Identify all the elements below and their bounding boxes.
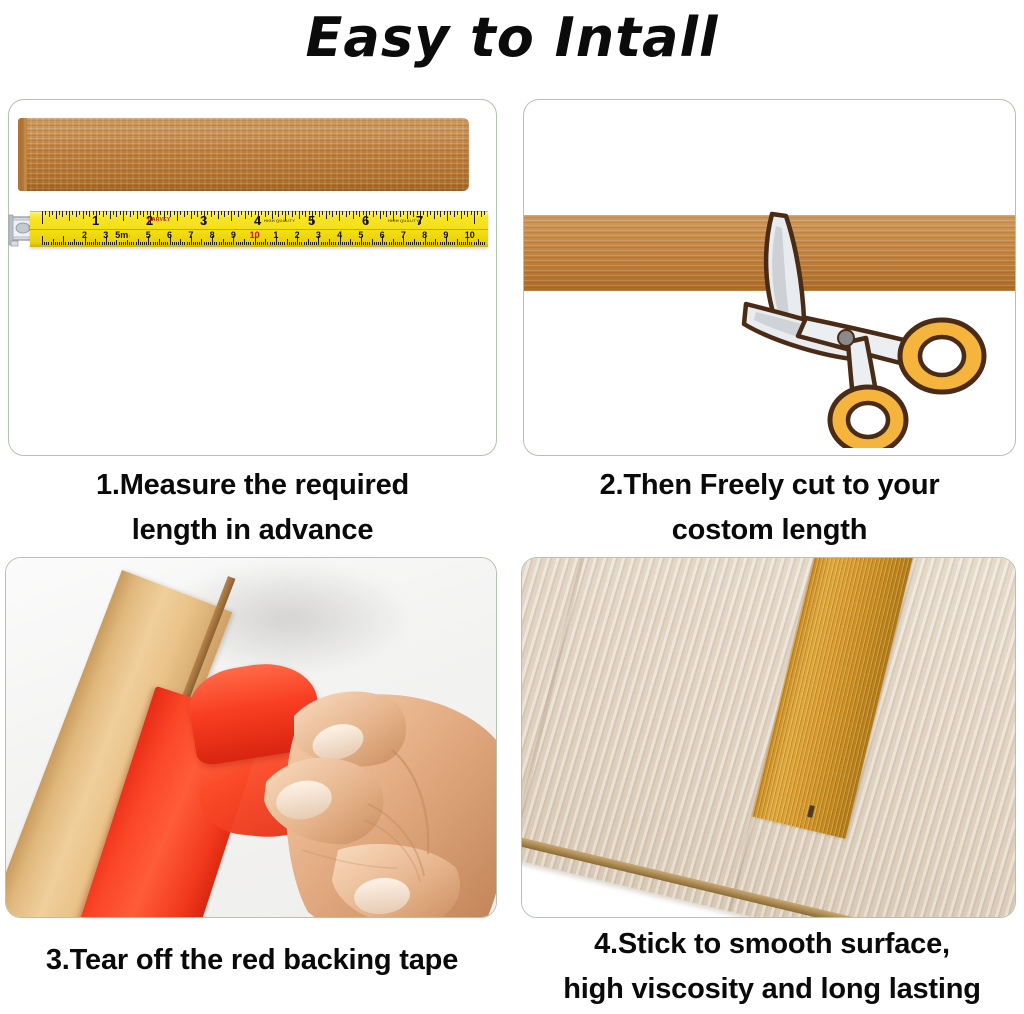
caption-measure-line2: length in advance	[8, 508, 497, 553]
page-title: Easy to Intall	[0, 2, 1024, 74]
panel-cut	[523, 99, 1016, 456]
tape-metric-label: 9	[443, 231, 448, 240]
tape-metric-label: 4	[337, 231, 342, 240]
panel-stick	[521, 557, 1016, 918]
caption-peel-line1: 3.Tear off the red backing tape	[0, 938, 504, 983]
tape-metric-label: 3	[316, 231, 321, 240]
tape-quality-text: HIGH QUALITY	[264, 218, 295, 223]
tape-metric-label: 1	[273, 231, 278, 240]
infographic-page: Easy to Intall 1234567234567891012345678…	[0, 0, 1024, 1014]
tape-metric-label: 6	[167, 231, 172, 240]
wood-trim-strip-measure	[18, 118, 469, 191]
tape-measure: 12345672345678910123456789105m HARVEY HI…	[8, 209, 488, 247]
tape-metric-label: 6	[380, 231, 385, 240]
caption-peel: 3.Tear off the red backing tape	[0, 938, 504, 983]
tape-inch-label: 5	[308, 214, 315, 227]
panel-peel	[5, 557, 497, 918]
caption-stick: 4.Stick to smooth surface, high viscosit…	[520, 922, 1024, 1012]
tape-quality-text-2: HIGH QUALITY	[388, 218, 419, 223]
tape-metric-label: 10	[465, 231, 475, 240]
hand-peeling	[242, 654, 497, 918]
scissors-icon	[740, 208, 990, 448]
caption-stick-line2: high viscosity and long lasting	[520, 967, 1024, 1012]
tape-metric-label: 5	[146, 231, 151, 240]
caption-cut-line1: 2.Then Freely cut to your	[523, 463, 1016, 508]
caption-cut: 2.Then Freely cut to your costom length	[523, 463, 1016, 553]
tape-metric-label: 2	[82, 231, 87, 240]
tape-inch-label: 1	[92, 214, 99, 227]
tape-inch-label: 3	[200, 214, 207, 227]
tape-metric-label: 3	[103, 231, 108, 240]
tape-metric-label: 5	[358, 231, 363, 240]
tape-metric-label: 2	[295, 231, 300, 240]
tape-brand-text: HARVEY	[148, 217, 171, 223]
caption-stick-line1: 4.Stick to smooth surface,	[520, 922, 1024, 967]
tape-metric-label: 7	[401, 231, 406, 240]
caption-cut-line2: costom length	[523, 508, 1016, 553]
tape-metric-label: 10	[250, 231, 260, 240]
caption-measure: 1.Measure the required length in advance	[8, 463, 497, 553]
caption-measure-line1: 1.Measure the required	[8, 463, 497, 508]
tape-inch-label: 6	[362, 214, 369, 227]
tape-length-label: 5m	[114, 231, 129, 240]
tape-metric-label: 7	[188, 231, 193, 240]
tape-metric-label: 8	[210, 231, 215, 240]
tape-metric-label: 8	[422, 231, 427, 240]
tape-inch-label: 4	[254, 214, 261, 227]
tape-metric-label: 9	[231, 231, 236, 240]
